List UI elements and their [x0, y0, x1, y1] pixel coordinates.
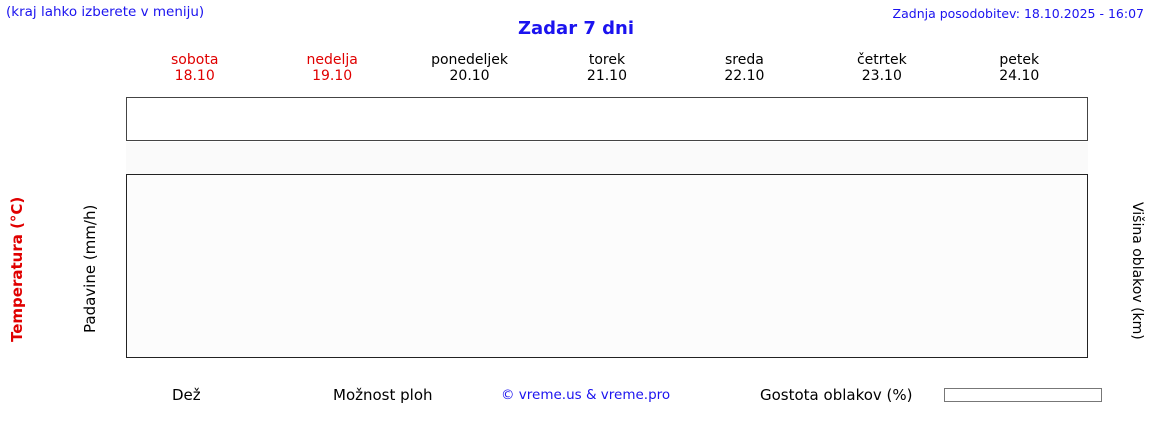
last-update-text: Zadnja posodobitev: 18.10.2025 - 16:07 — [893, 6, 1144, 21]
day-header-1: nedelja19.10 — [263, 52, 400, 94]
cloud-height-axis-title: Višina oblakov (km) — [1124, 178, 1150, 363]
day-name: petek — [951, 52, 1088, 68]
day-date: 19.10 — [263, 68, 400, 84]
day-date: 22.10 — [676, 68, 813, 84]
credit-text[interactable]: © vreme.us & vreme.pro — [501, 387, 670, 403]
time-axis-labels — [126, 360, 1088, 380]
wind-barb-strip — [126, 142, 1088, 174]
weather-icon-strip — [126, 97, 1088, 141]
showers-legend-swatch — [287, 391, 321, 402]
day-date: 21.10 — [538, 68, 675, 84]
cloud-density-scale-labels — [938, 403, 1114, 421]
page-title: Zadar 7 dni — [0, 18, 1152, 39]
cloud-density-color-scale — [944, 388, 1102, 402]
day-header-5: četrtek23.10 — [813, 52, 950, 94]
day-date: 18.10 — [126, 68, 263, 84]
showers-legend-label: Možnost ploh — [333, 386, 433, 404]
day-name: sobota — [126, 52, 263, 68]
legend: Dež Možnost ploh © vreme.us & vreme.pro … — [126, 386, 1146, 426]
rain-legend-swatch — [126, 391, 160, 402]
day-name: četrtek — [813, 52, 950, 68]
day-header-6: petek24.10 — [951, 52, 1088, 94]
cloud-density-legend-title: Gostota oblakov (%) — [760, 386, 913, 404]
day-header-3: torek21.10 — [538, 52, 675, 94]
day-name: nedelja — [263, 52, 400, 68]
day-header-4: sreda22.10 — [676, 52, 813, 94]
day-name: sreda — [676, 52, 813, 68]
day-name: torek — [538, 52, 675, 68]
rain-legend-label: Dež — [172, 386, 201, 404]
day-name: ponedeljek — [401, 52, 538, 68]
temperature-axis-ticks — [30, 174, 70, 358]
precipitation-axis-title: Padavine (mm/h) — [78, 178, 102, 360]
precipitation-axis-ticks — [100, 174, 122, 358]
day-date: 20.10 — [401, 68, 538, 84]
day-date: 24.10 — [951, 68, 1088, 84]
temperature-axis-title: Temperatura (°C) — [4, 178, 30, 360]
day-header-row: sobota18.10nedelja19.10ponedeljek20.10to… — [126, 52, 1088, 94]
cloud-height-axis-ticks — [1090, 174, 1124, 358]
day-header-2: ponedeljek20.10 — [401, 52, 538, 94]
day-header-0: sobota18.10 — [126, 52, 263, 94]
day-date: 23.10 — [813, 68, 950, 84]
forecast-plot — [126, 174, 1088, 358]
